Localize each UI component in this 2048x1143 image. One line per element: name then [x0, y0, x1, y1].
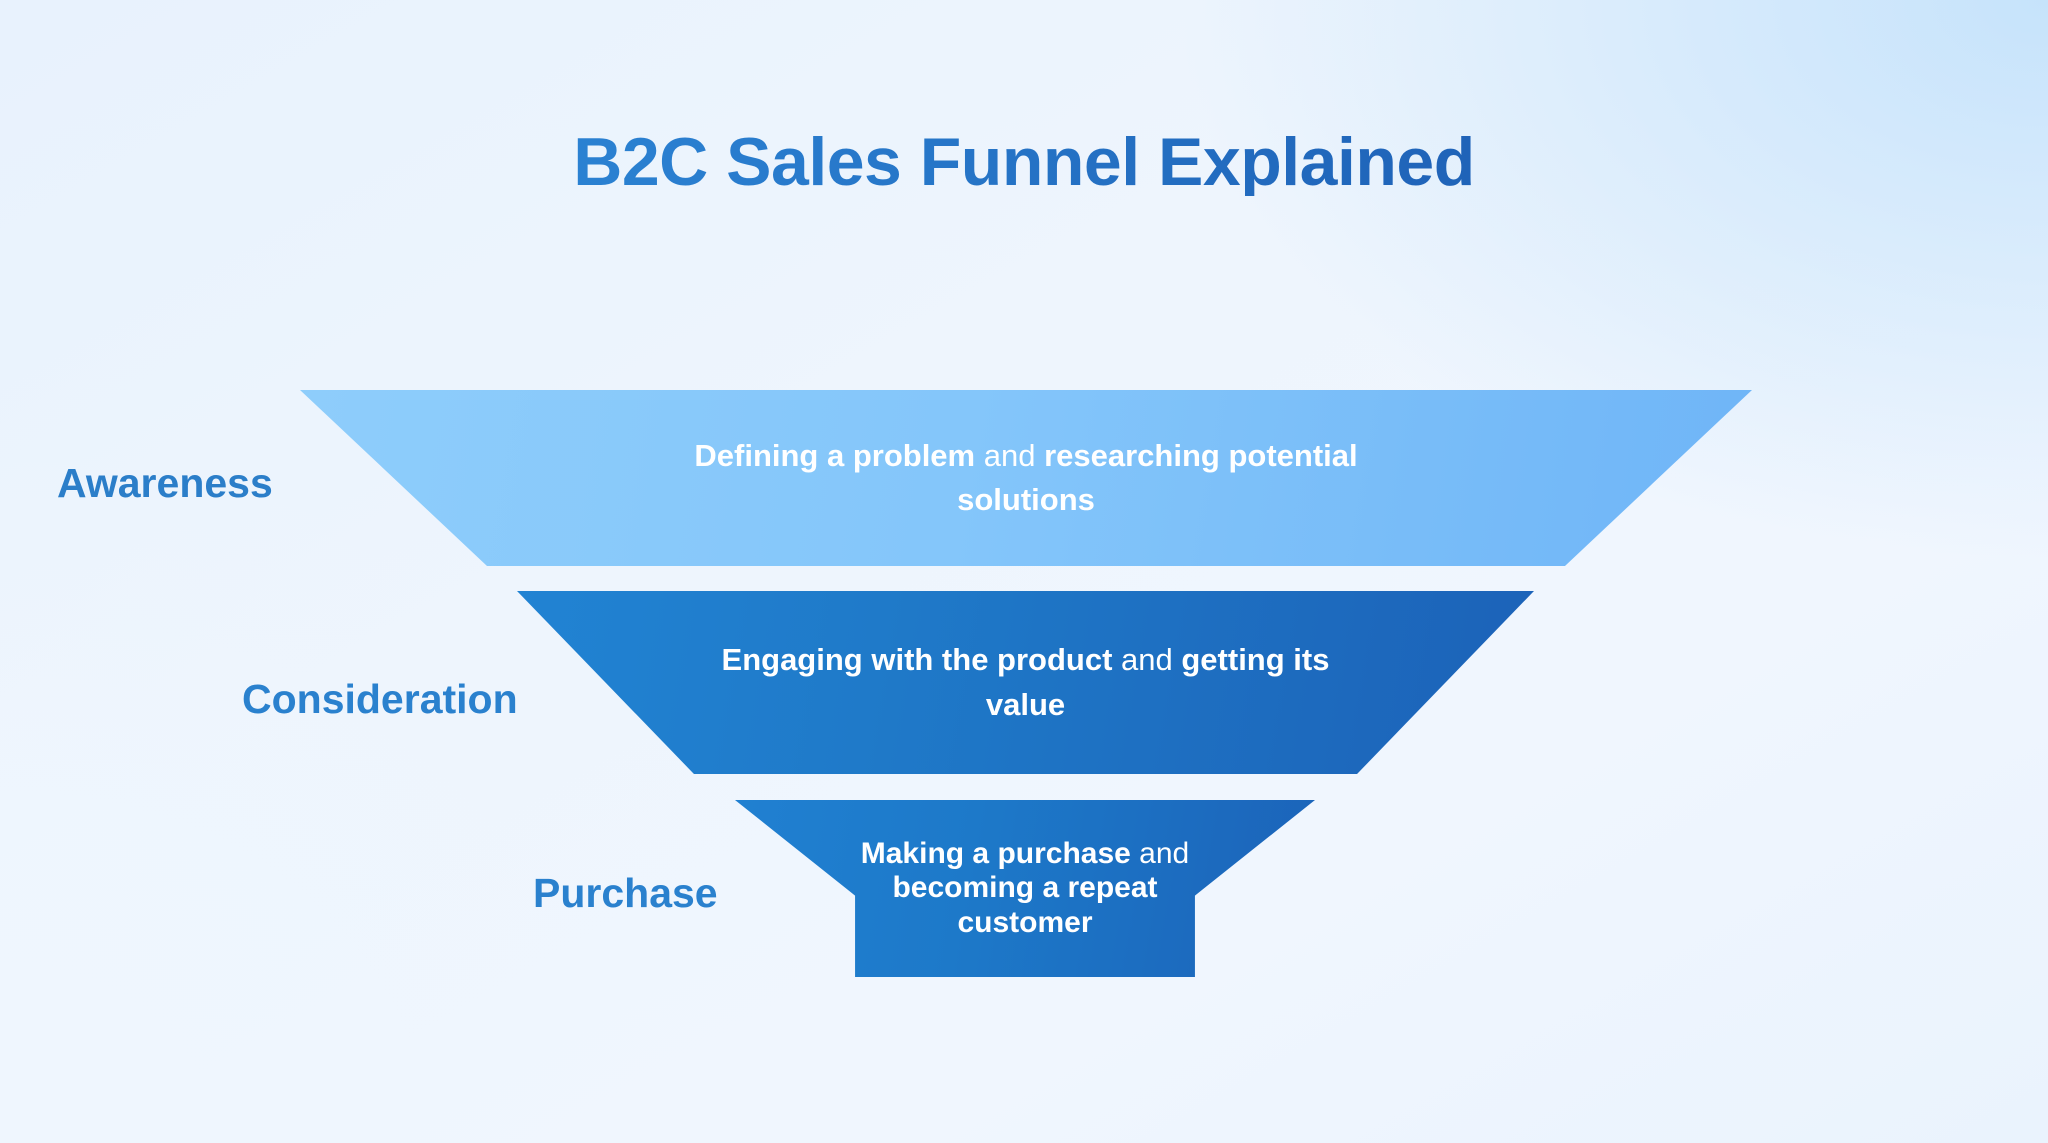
funnel-diagram: Defining a problem and researching poten… — [0, 0, 2048, 1143]
funnel-band-purchase[interactable]: Making a purchase and becoming a repeat … — [735, 800, 1315, 977]
funnel-band-consideration[interactable]: Engaging with the product and getting it… — [517, 591, 1534, 774]
text-segment-bold: Engaging with the product — [722, 642, 1113, 677]
funnel-band-purchase-text: Making a purchase and becoming a repeat … — [855, 837, 1195, 941]
text-segment-regular: and — [1131, 837, 1189, 870]
text-segment-bold: Making a purchase — [861, 837, 1131, 870]
funnel-band-consideration-text: Engaging with the product and getting it… — [706, 638, 1346, 726]
funnel-band-awareness[interactable]: Defining a problem and researching poten… — [300, 390, 1752, 566]
text-segment-bold: becoming a repeat customer — [892, 871, 1157, 939]
slide-canvas: B2C Sales Funnel Explained Defining a pr… — [0, 0, 2048, 1143]
text-segment-regular: and — [975, 438, 1044, 473]
stage-label-consideration: Consideration — [242, 679, 518, 720]
text-segment-regular: and — [1112, 642, 1181, 677]
stage-label-purchase: Purchase — [533, 873, 718, 914]
funnel-band-awareness-text: Defining a problem and researching poten… — [676, 434, 1376, 522]
stage-label-awareness: Awareness — [57, 463, 273, 504]
text-segment-bold: Defining a problem — [694, 438, 975, 473]
